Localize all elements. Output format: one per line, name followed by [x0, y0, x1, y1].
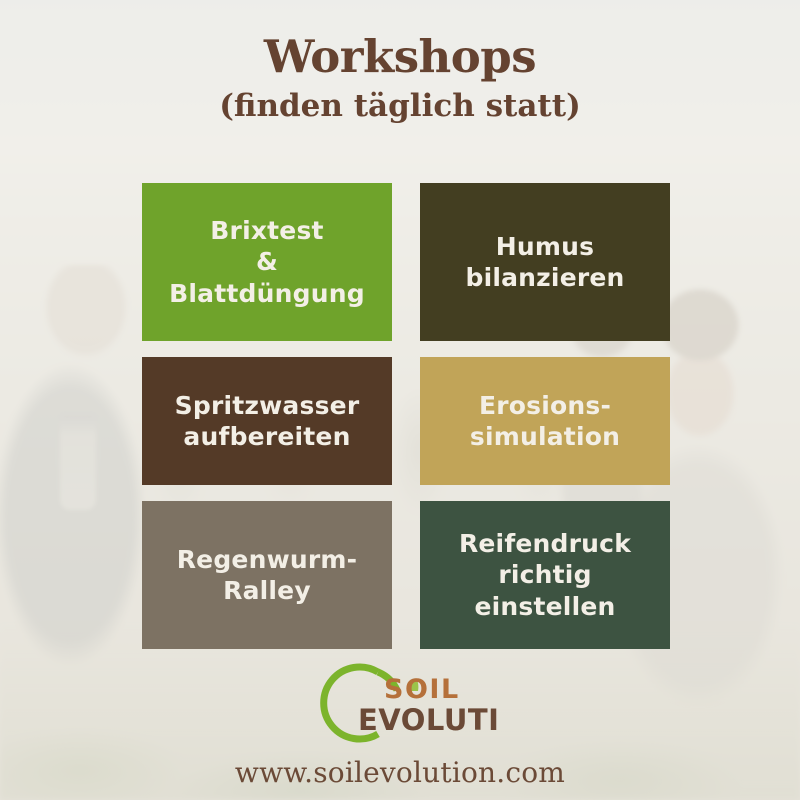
page-title: Workshops — [0, 30, 800, 83]
logo-graphic: SOIL EVOLUTION — [300, 660, 500, 746]
workshop-tile-spritzwasser[interactable]: Spritzwasseraufbereiten — [142, 357, 392, 485]
workshop-tile-regenwurm[interactable]: Regenwurm-Ralley — [142, 501, 392, 649]
page-subtitle: (finden täglich statt) — [0, 88, 800, 124]
workshop-poster: Workshops (finden täglich statt) Brixtes… — [0, 0, 800, 800]
workshop-tile-humus[interactable]: Humusbilanzieren — [420, 183, 670, 341]
workshop-tile-reifendruck[interactable]: Reifendruckrichtig einstellen — [420, 501, 670, 649]
workshop-tile-grid: Brixtest&Blattdüngung Humusbilanzieren S… — [142, 183, 670, 649]
workshop-tile-erosion[interactable]: Erosions-simulation — [420, 357, 670, 485]
website-url[interactable]: www.soilevolution.com — [0, 756, 800, 789]
soil-evolution-logo[interactable]: SOIL EVOLUTION — [300, 660, 500, 746]
logo-word-evolution: EVOLUTION — [358, 703, 500, 737]
poster-content: Workshops (finden täglich statt) Brixtes… — [0, 0, 800, 800]
logo-word-soil: SOIL — [384, 674, 460, 705]
workshop-tile-brixtest[interactable]: Brixtest&Blattdüngung — [142, 183, 392, 341]
